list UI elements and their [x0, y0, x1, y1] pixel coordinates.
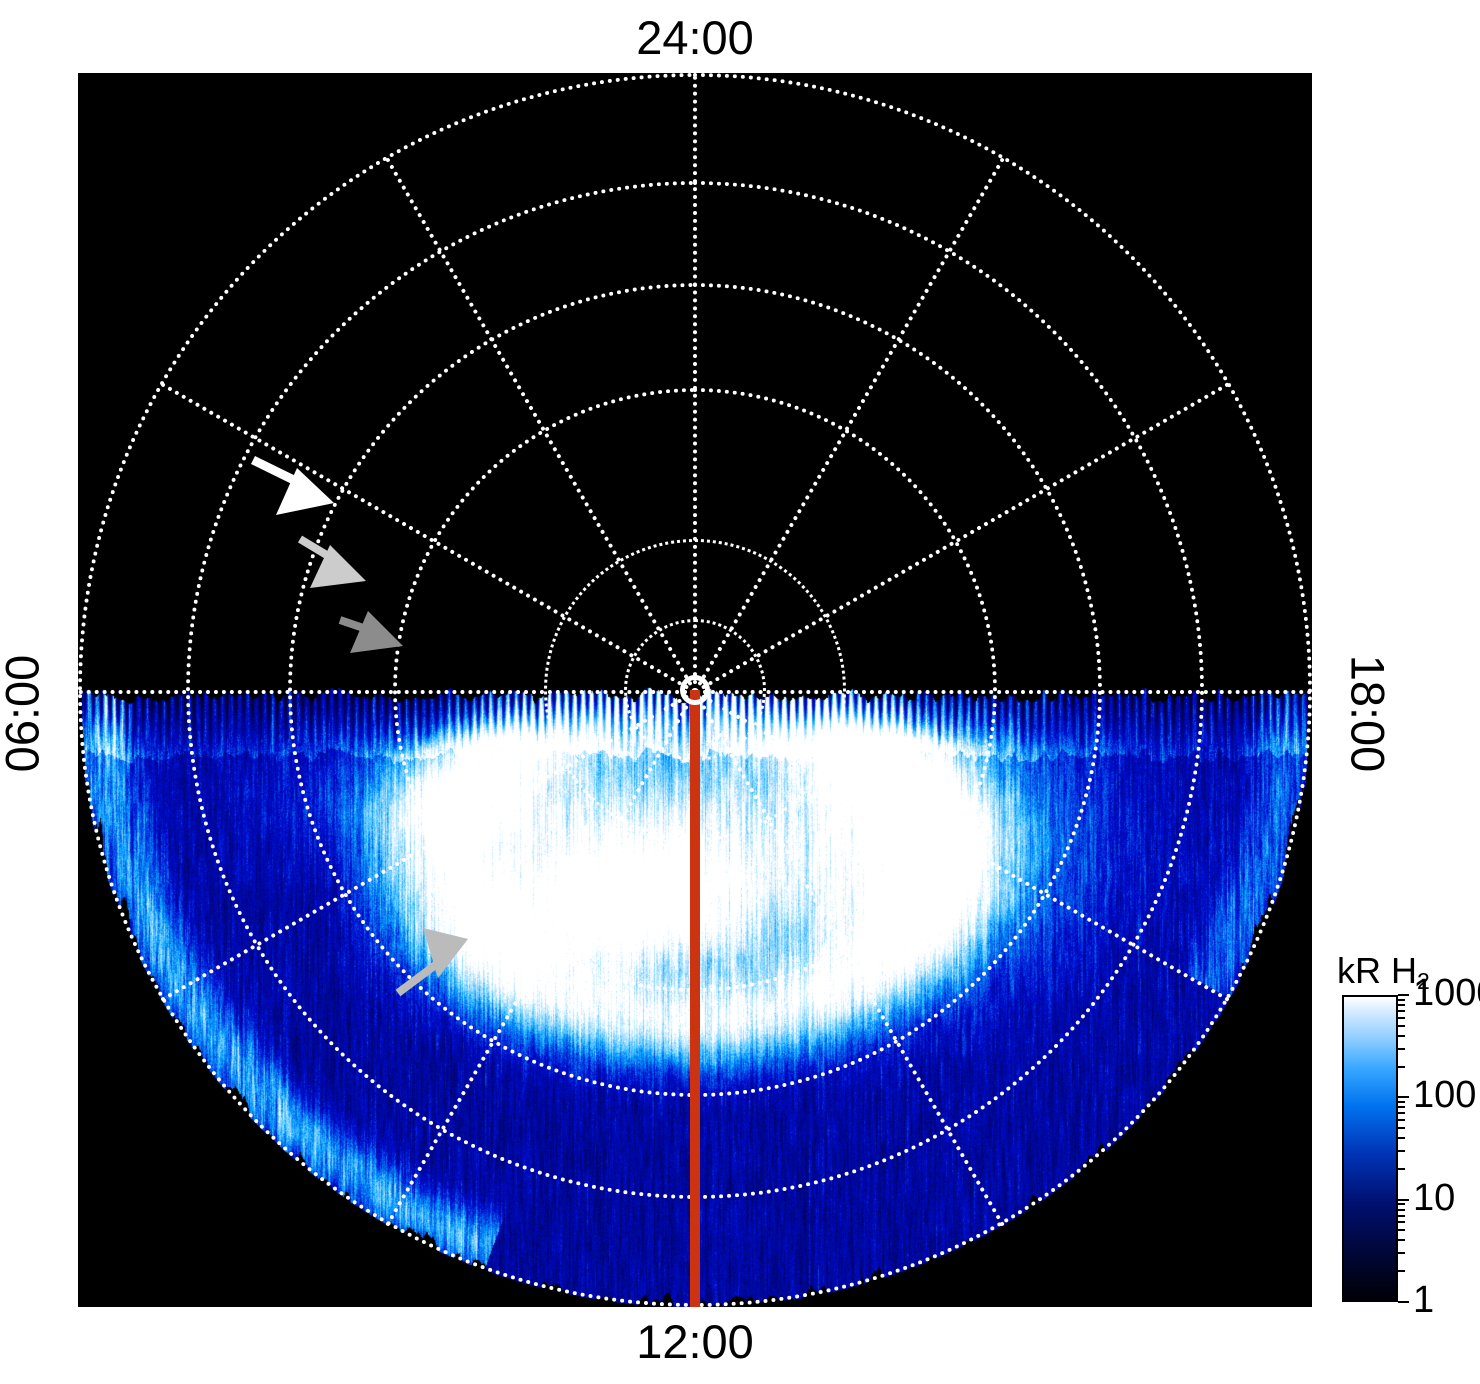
arrow-3 — [340, 611, 403, 653]
axis-label-top: 24:00 — [0, 14, 1390, 61]
figure-root: 24:00 12:00 06:00 18:00 — [0, 0, 1480, 1384]
colorbar-tick-minor — [1398, 1119, 1405, 1121]
colorbar-tick-minor — [1398, 1270, 1405, 1272]
arrow-4 — [398, 928, 468, 993]
arrow-2 — [300, 539, 366, 588]
colorbar-tick-minor — [1398, 1017, 1405, 1019]
colorbar-tick-minor — [1398, 1004, 1405, 1006]
colorbar-tick-major — [1398, 1301, 1409, 1303]
colorbar-tick-minor — [1398, 1106, 1405, 1108]
axis-label-bottom: 12:00 — [0, 1318, 1390, 1365]
colorbar-tick-minor — [1398, 1112, 1405, 1114]
colorbar-tick-minor — [1398, 1229, 1405, 1231]
colorbar-tick-label: 100 — [1413, 1074, 1476, 1117]
colorbar-tick-minor — [1398, 1010, 1405, 1012]
colorbar-tick-minor — [1398, 1215, 1405, 1217]
colorbar-tick-minor — [1398, 1048, 1405, 1050]
colorbar-tick-minor — [1398, 1025, 1405, 1027]
colorbar-tick-minor — [1398, 1221, 1405, 1223]
colorbar-tick-minor — [1398, 1066, 1405, 1068]
annotation-arrows — [78, 73, 1312, 1307]
colorbar-tick-minor — [1398, 1035, 1405, 1037]
colorbar-tick-major — [1398, 1096, 1409, 1098]
colorbar-tick-label: 1000 — [1413, 972, 1480, 1015]
colorbar-tick-minor — [1398, 1209, 1405, 1211]
colorbar-tick-label: 10 — [1413, 1177, 1455, 1220]
colorbar-tick-minor — [1398, 1150, 1405, 1152]
axis-label-left: 06:00 — [0, 614, 46, 814]
colorbar-tick-major — [1398, 994, 1409, 996]
colorbar: kR H2 1000100101 — [1337, 950, 1480, 1320]
arrow-1 — [253, 460, 334, 515]
polar-plot-panel — [78, 73, 1312, 1307]
colorbar-tick-minor — [1398, 999, 1405, 1001]
colorbar-tick-minor — [1398, 1252, 1405, 1254]
colorbar-tick-minor — [1398, 1168, 1405, 1170]
colorbar-tick-major — [1398, 1199, 1409, 1201]
colorbar-tick-minor — [1398, 1127, 1405, 1129]
colorbar-title-main: kR H — [1337, 950, 1417, 991]
colorbar-tick-minor — [1398, 1203, 1405, 1205]
colorbar-tick-minor — [1398, 1137, 1405, 1139]
colorbar-gradient — [1342, 995, 1398, 1302]
colorbar-tick-label: 1 — [1413, 1279, 1434, 1322]
colorbar-tick-minor — [1398, 1239, 1405, 1241]
colorbar-tick-minor — [1398, 1101, 1405, 1103]
axis-label-right: 18:00 — [1345, 614, 1392, 814]
